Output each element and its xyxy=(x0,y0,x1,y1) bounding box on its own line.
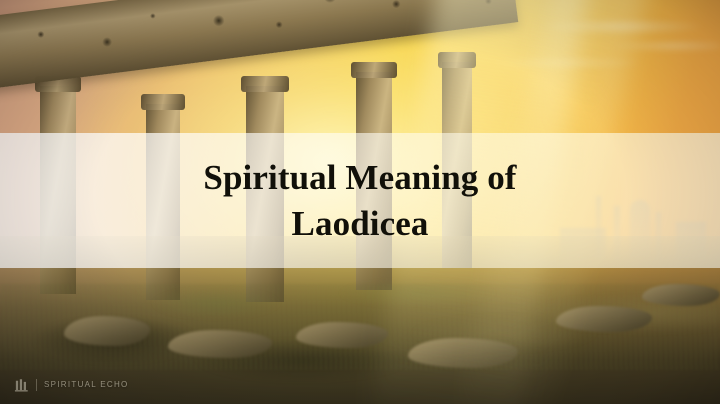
rubble-rock xyxy=(642,284,720,306)
banner-image: Spiritual Meaning of Laodicea SPIRITUAL … xyxy=(0,0,720,404)
rubble-rock xyxy=(408,338,518,368)
watermark: SPIRITUAL ECHO xyxy=(14,377,129,392)
rubble-rock xyxy=(556,306,652,332)
title-line-2: Laodicea xyxy=(292,201,429,247)
rubble-rock xyxy=(64,316,150,346)
rubble-rock xyxy=(168,330,272,358)
watermark-divider xyxy=(36,379,37,391)
columns-logo-icon xyxy=(14,377,29,392)
title-band: Spiritual Meaning of Laodicea xyxy=(0,133,720,268)
title-line-1: Spiritual Meaning of xyxy=(203,155,516,201)
watermark-brand: SPIRITUAL ECHO xyxy=(44,380,129,389)
rubble-rock xyxy=(296,322,388,348)
